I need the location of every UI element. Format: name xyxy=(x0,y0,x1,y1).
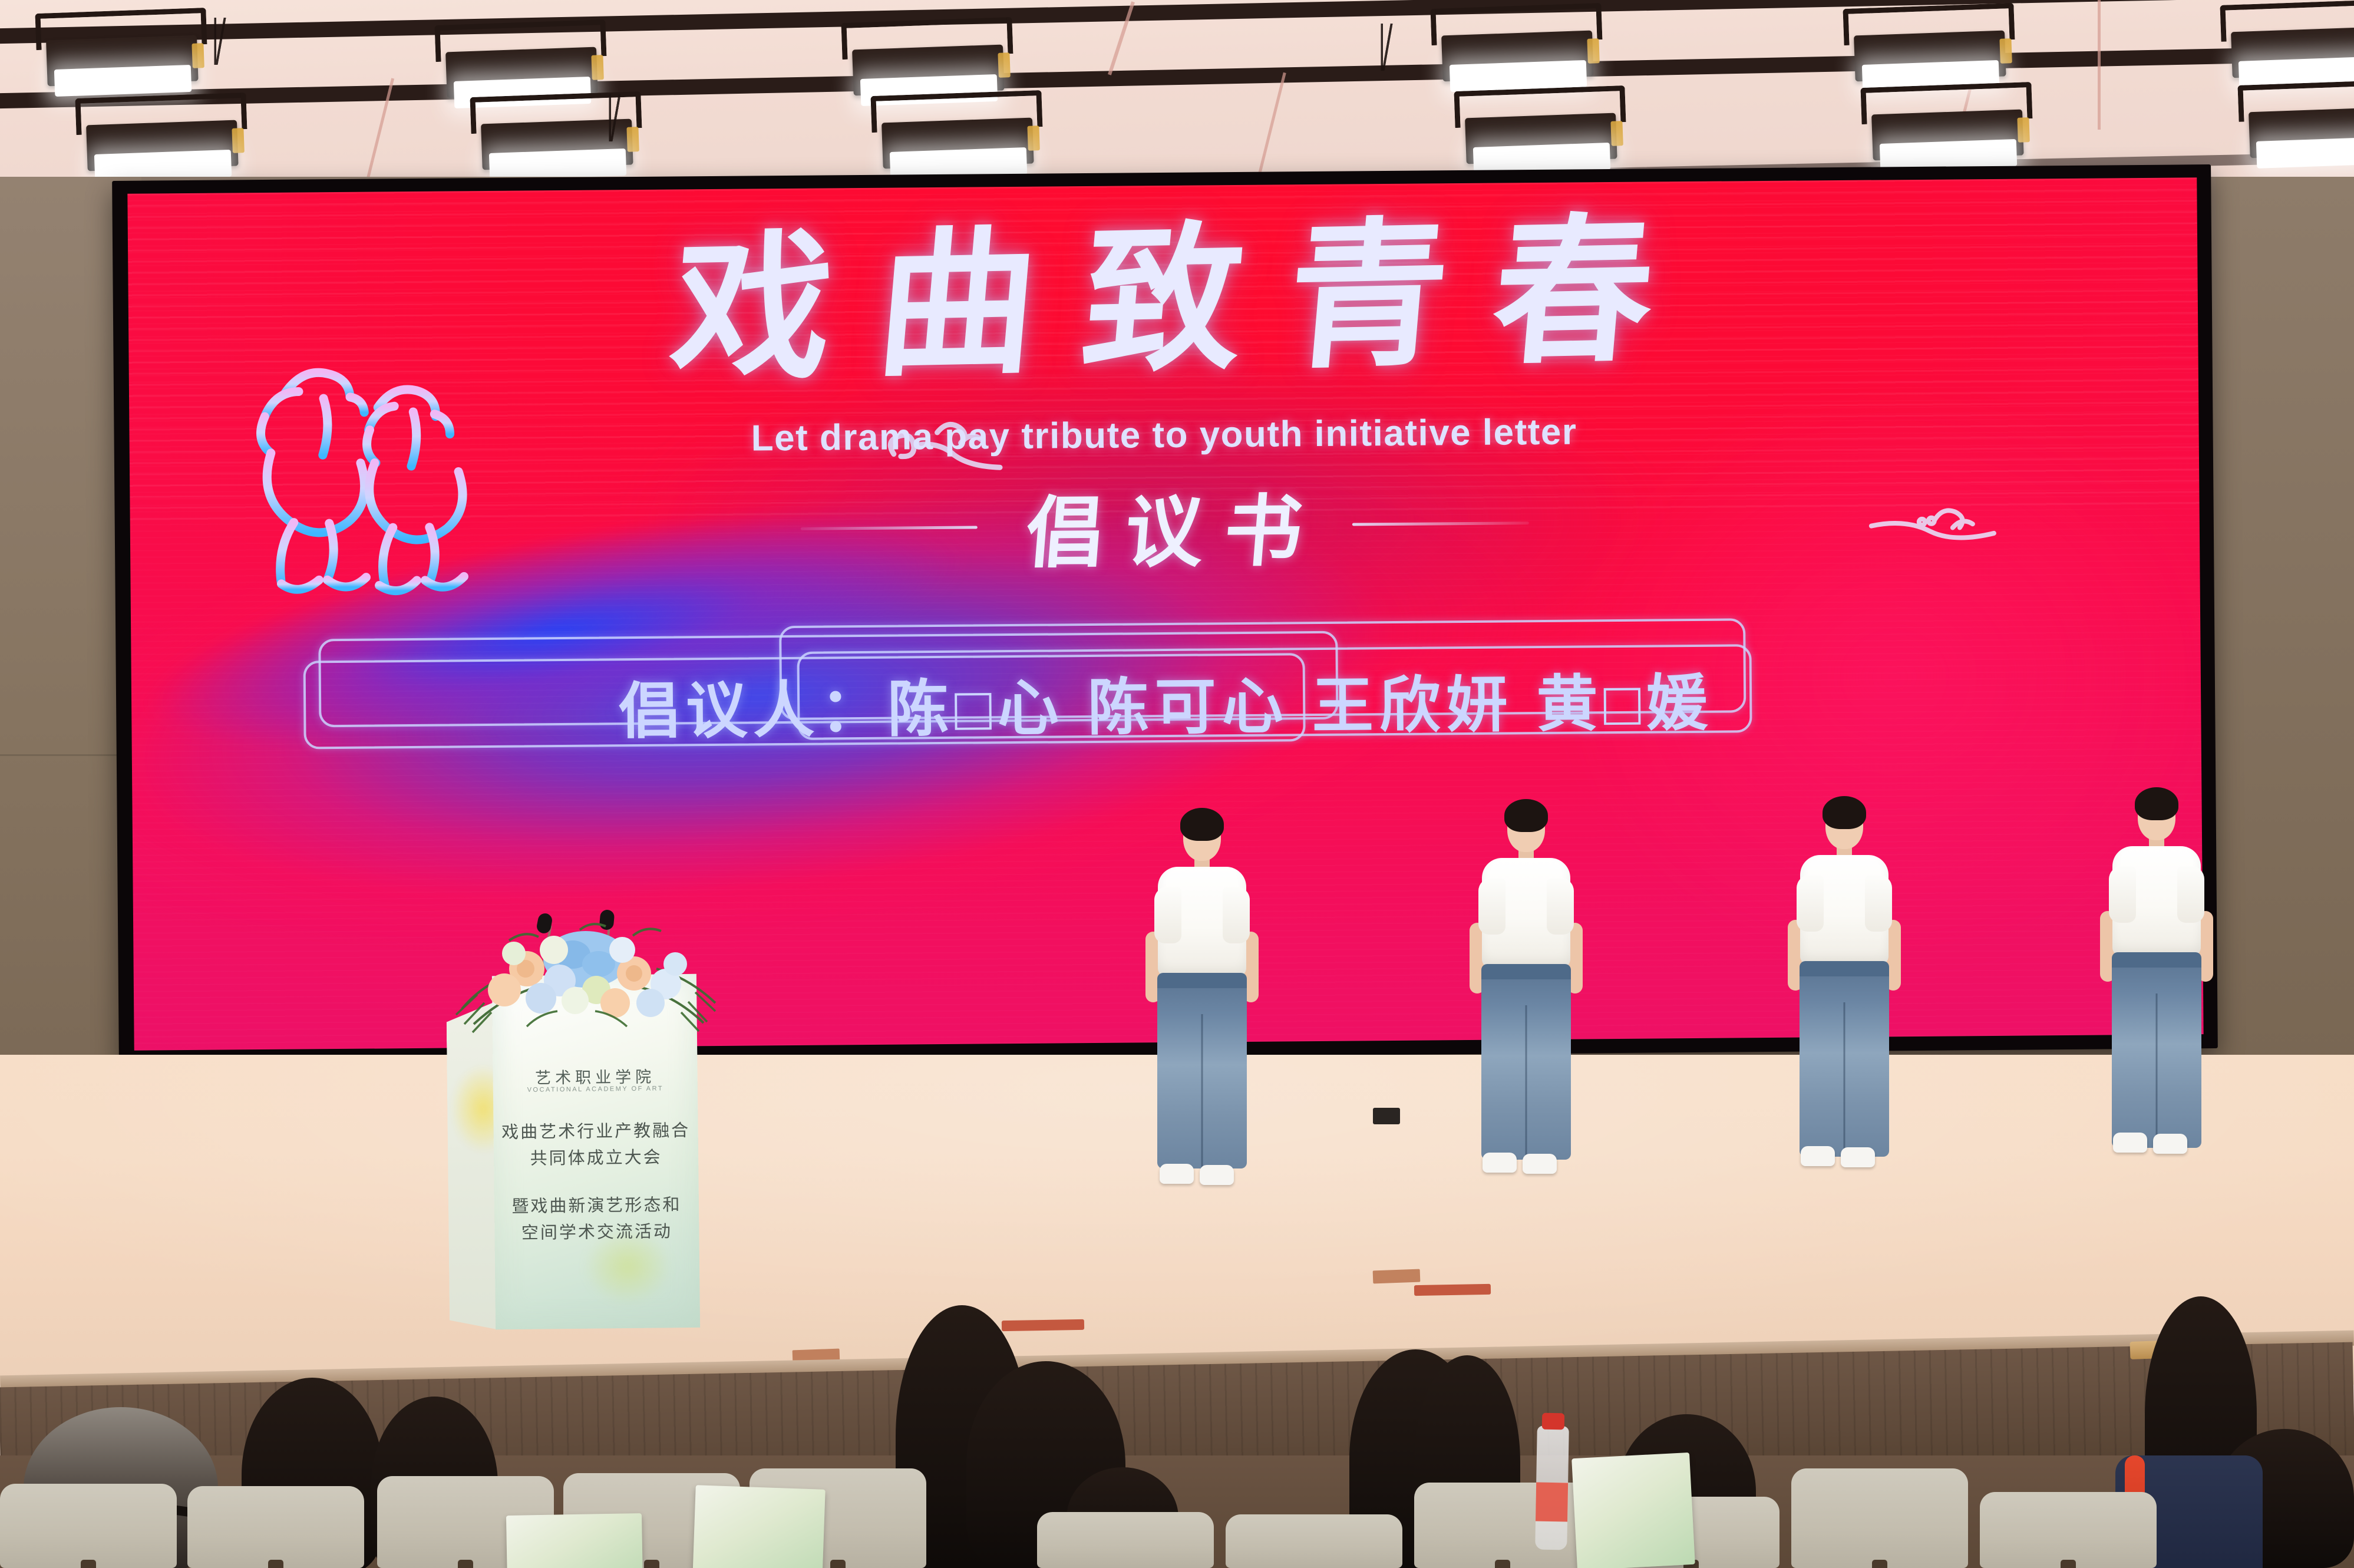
performer-1 xyxy=(1143,810,1261,1282)
performer-3 xyxy=(1785,798,1903,1270)
programme-booklet xyxy=(506,1513,643,1568)
stage-light xyxy=(1860,82,2034,176)
water-bottle xyxy=(1535,1426,1569,1550)
audience-seat xyxy=(0,1484,177,1568)
podium-event-line-4: 空间学术交流活动 xyxy=(494,1217,699,1245)
led-initiators-line: 倡议人：陈□心 陈可心 王欣妍 黄□媛 xyxy=(131,649,2201,754)
audience-seat xyxy=(1791,1468,1968,1568)
audience-seat xyxy=(1037,1512,1214,1568)
performer-2 xyxy=(1467,801,1585,1273)
light-cable xyxy=(1367,24,1398,71)
stage-light xyxy=(2237,80,2354,174)
stage-light xyxy=(1430,3,1604,97)
floor-monitor-box xyxy=(1373,1108,1400,1124)
wall-marker-strip xyxy=(1002,1319,1084,1331)
stage-photograph: 戏曲致青春 Let drama pay tribute to youth ini… xyxy=(0,0,2354,1568)
led-chinese-subtitle: 倡议书 xyxy=(1001,468,1328,583)
podium-event-line-1: 戏曲艺术行业产教融合 xyxy=(493,1117,698,1144)
podium-event-line-2: 共同体成立大会 xyxy=(494,1143,698,1170)
stage-light xyxy=(2220,0,2354,94)
rule-left xyxy=(801,526,978,530)
stage-light xyxy=(35,8,209,102)
audience-seat xyxy=(187,1486,364,1568)
stage-light xyxy=(870,90,1044,184)
ceiling-conduit xyxy=(2098,0,2101,130)
light-cable xyxy=(200,18,231,65)
programme-booklet xyxy=(1571,1453,1695,1568)
flower-arrangement xyxy=(438,915,733,1044)
podium-event-line-3: 暨戏曲新演艺形态和 xyxy=(494,1191,699,1218)
cloud-swirl-right-icon xyxy=(1865,488,2001,566)
programme-booklet xyxy=(692,1485,825,1568)
stage-light xyxy=(1454,85,1627,180)
rule-right xyxy=(1352,521,1529,526)
stage-light xyxy=(75,93,249,187)
floor-socket xyxy=(1373,1269,1421,1284)
light-cable xyxy=(595,94,626,141)
wall-marker-strip xyxy=(1414,1284,1491,1296)
audience-seat xyxy=(1980,1492,2157,1568)
podium-side-panel xyxy=(446,1002,498,1330)
performer-4 xyxy=(2098,790,2216,1261)
audience-seat xyxy=(1226,1514,1402,1568)
